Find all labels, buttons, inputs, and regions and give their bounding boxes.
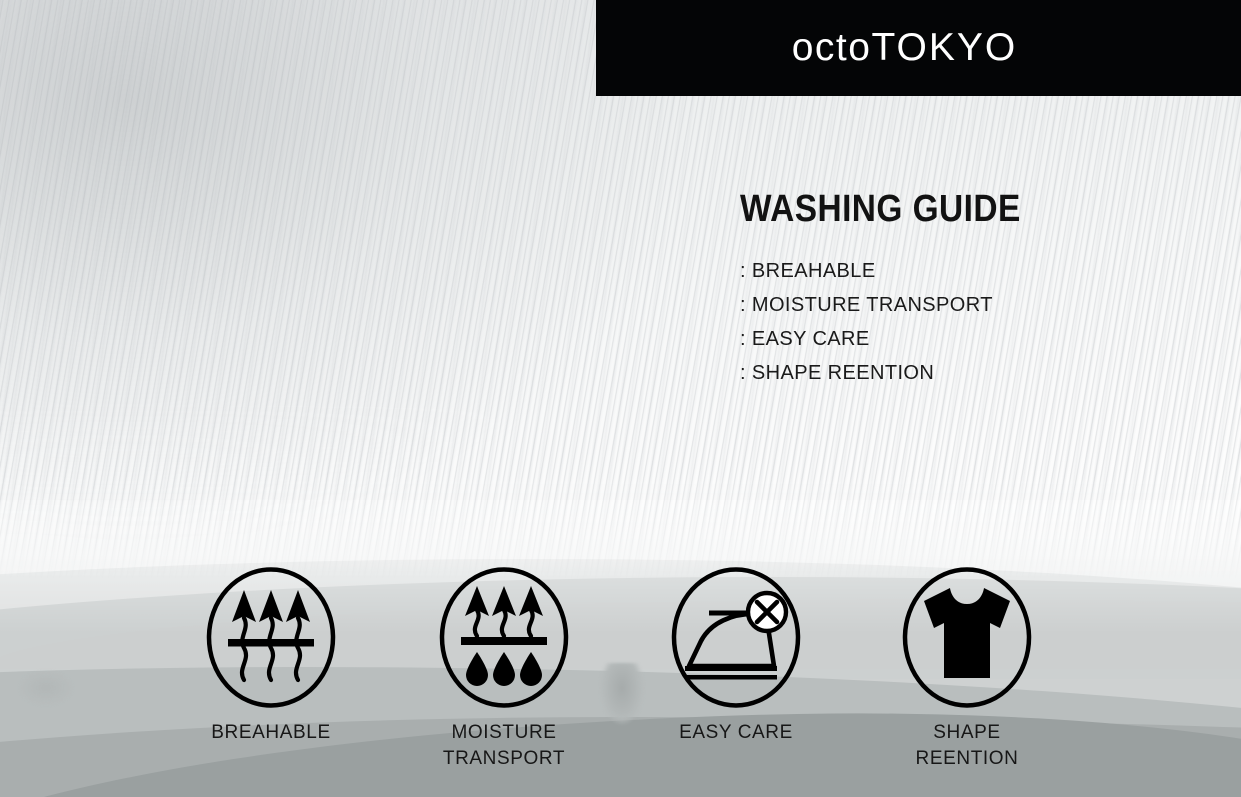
- feature-icon-label-breathable: BREAHABLE: [171, 720, 371, 746]
- page-title: WASHING GUIDE: [740, 190, 1154, 230]
- feature-icon-label-easy-care: EASY CARE: [636, 720, 836, 746]
- feature-icon-label-shape-retention: SHAPE REENTION: [867, 720, 1067, 772]
- fabric-shadow-gradient: [0, 0, 700, 560]
- feature-icon-item-shape-retention: SHAPE REENTION: [867, 566, 1067, 772]
- feature-list-item-breathable: : BREAHABLE: [740, 254, 1210, 288]
- feature-icon-label-line-1: SHAPE: [867, 720, 1067, 746]
- feature-list-item-shape-retention: : SHAPE REENTION: [740, 356, 1210, 390]
- shape-retention-tshirt-icon: [902, 566, 1032, 709]
- feature-icon-label-line-2: TRANSPORT: [404, 746, 604, 772]
- feature-list-item-moisture-transport: : MOISTURE TRANSPORT: [740, 288, 1210, 322]
- feature-icon-item-easy-care: EASY CARE: [636, 566, 836, 746]
- feature-icon-label-moisture-transport: MOISTURE TRANSPORT: [404, 720, 604, 772]
- logo-brand: TOKYO: [871, 26, 1017, 69]
- easy-care-no-iron-icon: [671, 566, 801, 709]
- logo-bar: octoTOKYO: [596, 0, 1241, 96]
- breathable-icon: [206, 566, 336, 709]
- feature-list: : BREAHABLE : MOISTURE TRANSPORT : EASY …: [740, 254, 1210, 390]
- washing-guide-poster: octoTOKYO WASHING GUIDE : BREAHABLE : MO…: [0, 0, 1241, 797]
- feature-icon-item-breathable: BREAHABLE: [171, 566, 371, 746]
- feature-icon-row: BREAHABLE: [0, 566, 1241, 786]
- feature-icon-label-line-2: REENTION: [867, 746, 1067, 772]
- feature-list-item-easy-care: : EASY CARE: [740, 322, 1210, 356]
- headline-block: WASHING GUIDE : BREAHABLE : MOISTURE TRA…: [740, 190, 1210, 390]
- brand-logo: octoTOKYO: [792, 26, 1046, 70]
- moisture-transport-icon: [439, 566, 569, 709]
- logo-prefix: octo: [792, 26, 872, 69]
- feature-icon-item-moisture-transport: MOISTURE TRANSPORT: [404, 566, 604, 772]
- feature-icon-label-line-1: MOISTURE: [404, 720, 604, 746]
